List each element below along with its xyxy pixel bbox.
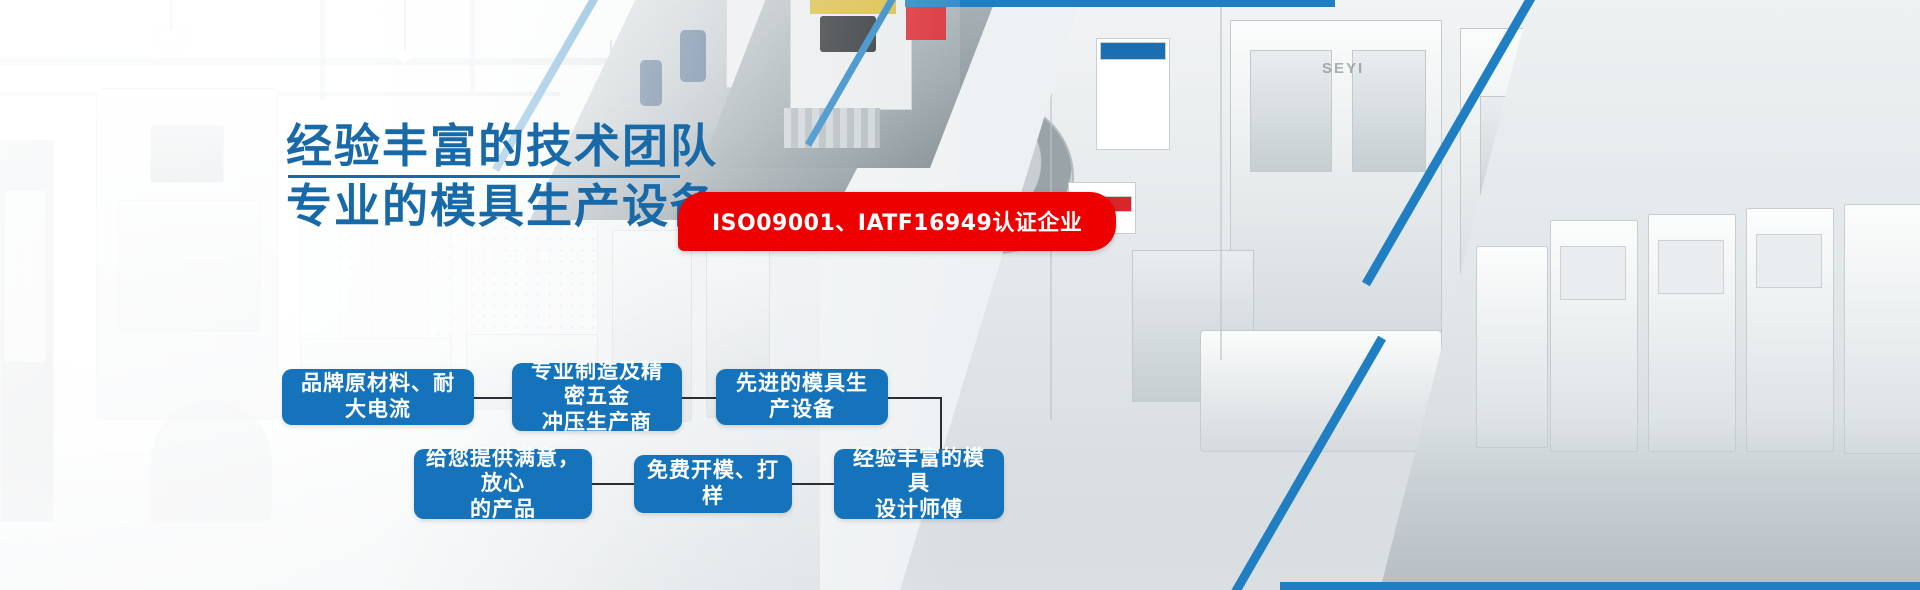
headline-block: 经验丰富的技术团队 专业的模具生产设备 <box>286 122 718 231</box>
connector-row1-3-down <box>884 397 942 399</box>
process-box-mold-equipment[interactable]: 先进的模具生产设备 <box>716 369 888 425</box>
connector-row1-2-3 <box>676 397 718 399</box>
headline-line-2: 专业的模具生产设备 <box>286 182 718 231</box>
certification-badge: ISO09001、IATF16949认证企业 <box>678 192 1116 251</box>
process-box-manufacturing[interactable]: 专业制造及精密五金 冲压生产商 <box>512 363 682 431</box>
process-box-manufacturing-line2: 冲压生产商 <box>542 410 652 436</box>
promotional-banner: SEYI SEYI <box>0 0 1920 590</box>
headline-line-1: 经验丰富的技术团队 <box>286 122 718 171</box>
headline-divider-rule <box>288 175 680 178</box>
connector-row2-1-2 <box>590 483 636 485</box>
process-box-raw-material[interactable]: 品牌原材料、耐大电流 <box>282 369 474 425</box>
process-box-free-sample[interactable]: 免费开模、打样 <box>634 455 792 513</box>
connector-row2-2-3 <box>790 483 836 485</box>
process-box-satisfaction-line1: 给您提供满意，放心 <box>424 446 582 497</box>
process-box-designer-line2: 设计师傅 <box>875 497 963 523</box>
connector-row1-1-2 <box>470 397 512 399</box>
banner-content: 经验丰富的技术团队 专业的模具生产设备 ISO09001、IATF16949认证… <box>0 0 1920 590</box>
process-box-designer-line1: 经验丰富的模具 <box>844 446 994 497</box>
process-box-satisfaction-line2: 的产品 <box>470 497 536 523</box>
process-box-designer[interactable]: 经验丰富的模具 设计师傅 <box>834 449 1004 519</box>
process-box-manufacturing-line1: 专业制造及精密五金 <box>522 359 672 410</box>
process-box-satisfaction[interactable]: 给您提供满意，放心 的产品 <box>414 449 592 519</box>
